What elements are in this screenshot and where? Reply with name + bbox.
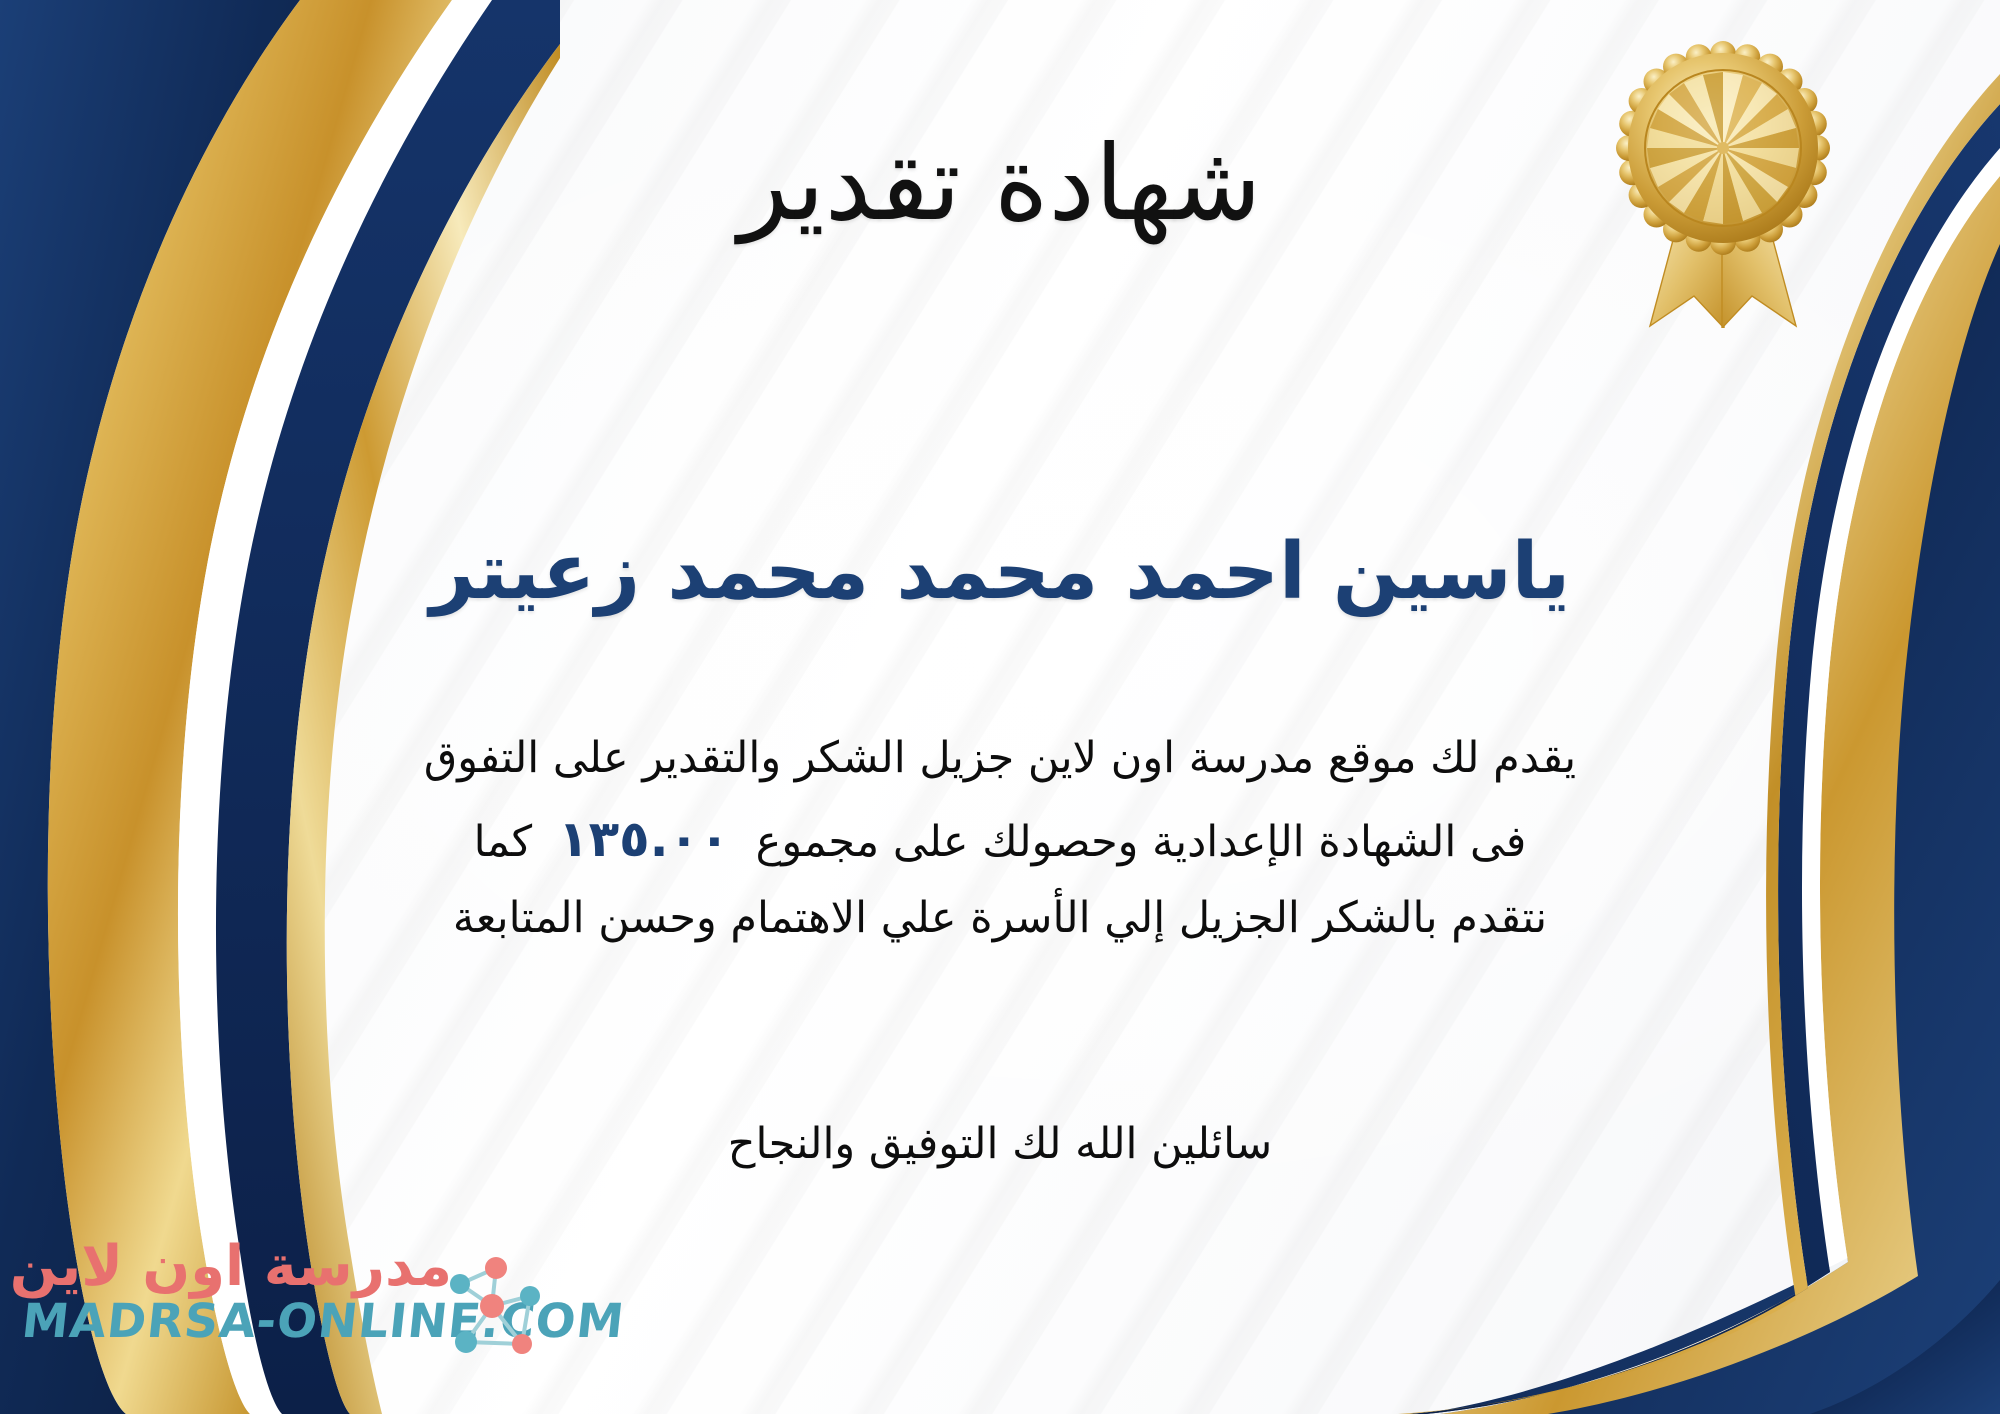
body-line-3: نتقدم بالشكر الجزيل إلي الأسرة علي الاهت…: [250, 882, 1750, 956]
closing-wish-line: سائلين الله لك التوفيق والنجاح: [0, 1110, 2000, 1179]
recipient-name: ياسين احمد محمد محمد زعيتر: [0, 522, 2000, 623]
certificate-document: شهادة تقدير ياسين احمد محمد محمد زعيتر ي…: [0, 0, 2000, 1414]
brand-logo[interactable]: مدرسة اون لاين MADRSA-ONLINE.COM: [22, 1238, 562, 1388]
network-nodes-logo-mark: [430, 1252, 554, 1372]
body-line-2-suffix: كما: [474, 817, 532, 867]
body-line-2: فى الشهادة الإعدادية وحصولك على مجموع١٣٥…: [250, 796, 1750, 882]
certificate-body: يقدم لك موقع مدرسة اون لاين جزيل الشكر و…: [250, 722, 1750, 956]
brand-website-url: MADRSA-ONLINE.COM: [19, 1297, 454, 1348]
grade-total-value: ١٣٥.٠٠: [532, 810, 756, 868]
body-line-1: يقدم لك موقع مدرسة اون لاين جزيل الشكر و…: [250, 722, 1750, 796]
brand-text-rows: مدرسة اون لاين MADRSA-ONLINE.COM: [22, 1238, 452, 1348]
body-line-2-prefix: فى الشهادة الإعدادية وحصولك على مجموع: [756, 817, 1527, 867]
certificate-title: شهادة تقدير: [0, 118, 2000, 248]
brand-name-arabic: مدرسة اون لاين: [22, 1238, 452, 1297]
